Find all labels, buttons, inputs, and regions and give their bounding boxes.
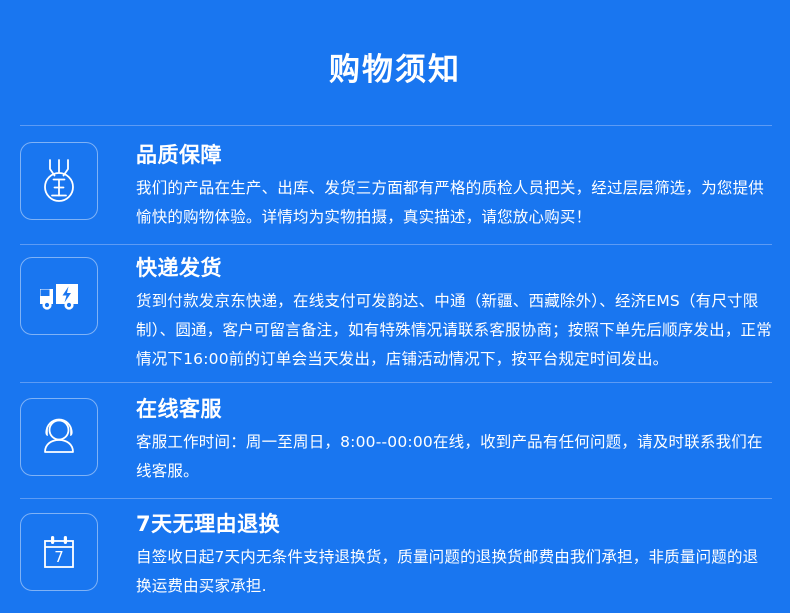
calendar-7day-icon: 7 — [20, 513, 98, 591]
headset-support-glyph — [34, 414, 84, 460]
section-text: 货到付款发京东快递，在线支付可发韵达、中通（新疆、西藏除外）、经济EMS（有尺寸… — [136, 287, 772, 374]
section-body: 7天无理由退换 自签收日起7天内无条件支持退换货，质量问题的退换货邮费由我们承担… — [98, 511, 772, 601]
delivery-truck-icon — [20, 257, 98, 335]
section-title: 7天无理由退换 — [136, 511, 772, 537]
shopping-notice-page: 购物须知 品质保障 我们的产品在生产、出库、发货三方面都有严格的质检人员 — [0, 0, 790, 546]
headset-support-icon — [20, 398, 98, 476]
calendar-7day-glyph: 7 — [36, 529, 82, 575]
section-text: 我们的产品在生产、出库、发货三方面都有严格的质检人员把关，经过层层筛选，为您提供… — [136, 174, 772, 232]
section-text: 客服工作时间：周一至周日，8:00--00:00在线，收到产品有任何问题，请及时… — [136, 428, 772, 486]
section-express-shipping: 快递发货 货到付款发京东快递，在线支付可发韵达、中通（新疆、西藏除外）、经济EM… — [0, 245, 790, 382]
section-title: 在线客服 — [136, 396, 772, 422]
notice-sections: 品质保障 我们的产品在生产、出库、发货三方面都有严格的质检人员把关，经过层层筛选… — [0, 125, 790, 613]
page-title: 购物须知 — [0, 0, 790, 86]
medal-quality-icon — [20, 142, 98, 220]
section-online-service: 在线客服 客服工作时间：周一至周日，8:00--00:00在线，收到产品有任何问… — [0, 383, 790, 498]
section-body: 在线客服 客服工作时间：周一至周日，8:00--00:00在线，收到产品有任何问… — [98, 396, 772, 486]
section-seven-day-return: 7 7天无理由退换 自签收日起7天内无条件支持退换货，质量问题的退换货邮费由我们… — [0, 499, 790, 613]
medal-quality-glyph — [34, 156, 84, 206]
section-text: 自签收日起7天内无条件支持退换货，质量问题的退换货邮费由我们承担，非质量问题的退… — [136, 543, 772, 601]
delivery-truck-glyph — [34, 274, 84, 318]
section-body: 快递发货 货到付款发京东快递，在线支付可发韵达、中通（新疆、西藏除外）、经济EM… — [98, 255, 772, 374]
section-title: 品质保障 — [136, 142, 772, 168]
section-body: 品质保障 我们的产品在生产、出库、发货三方面都有严格的质检人员把关，经过层层筛选… — [98, 140, 772, 232]
calendar-day-number: 7 — [54, 548, 64, 566]
section-title: 快递发货 — [136, 255, 772, 281]
section-quality-guarantee: 品质保障 我们的产品在生产、出库、发货三方面都有严格的质检人员把关，经过层层筛选… — [0, 126, 790, 244]
